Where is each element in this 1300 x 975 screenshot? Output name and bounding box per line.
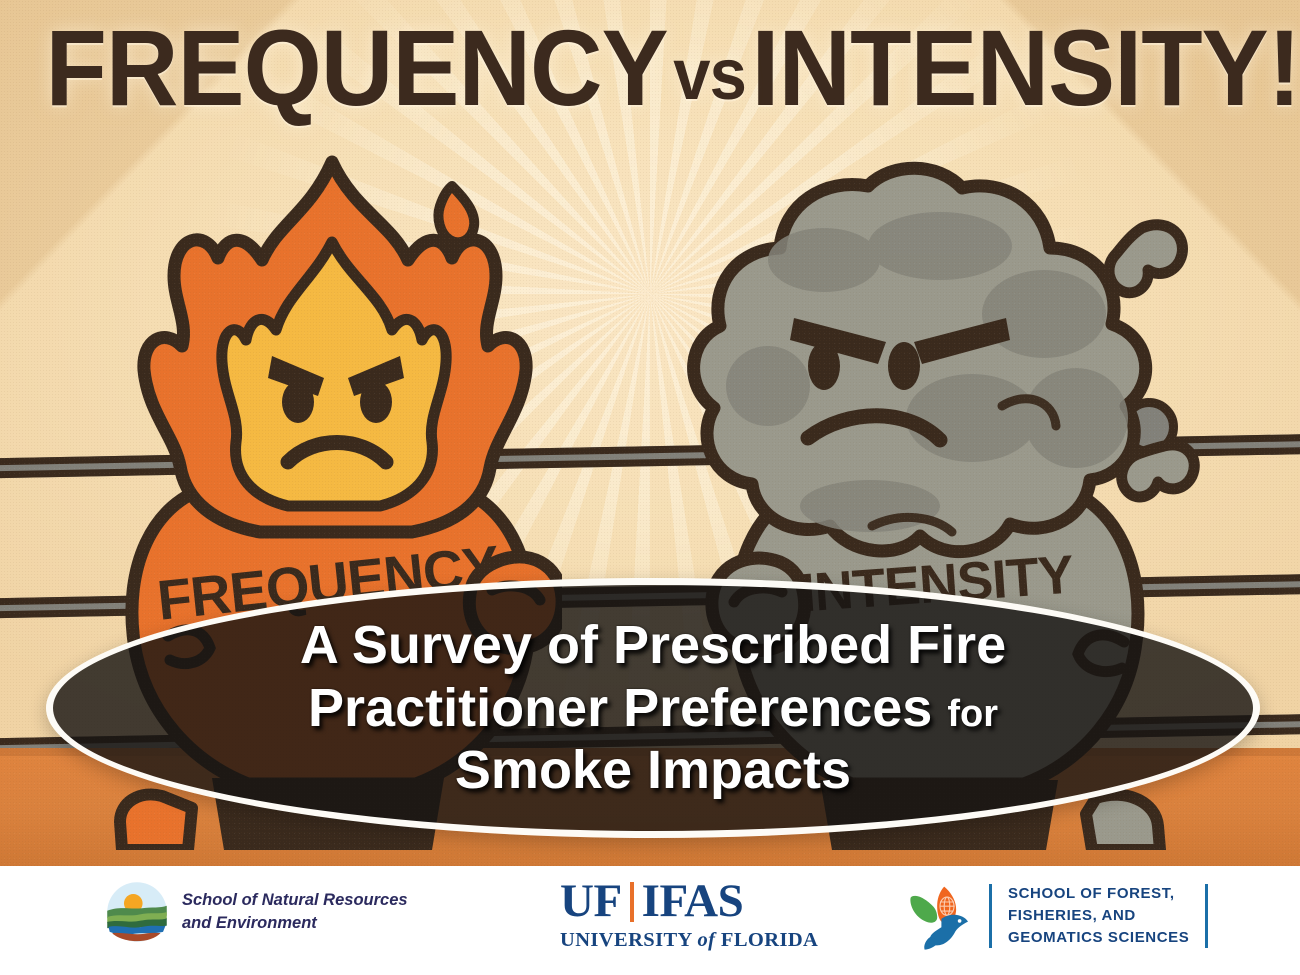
- sffgs-line-2: FISHERIES, AND: [1008, 905, 1189, 927]
- title-line-2-main: Practitioner Preferences: [308, 678, 932, 738]
- smoke-eye-left: [808, 342, 840, 390]
- sffgs-line-3: GEOMATICS SCIENCES: [1008, 927, 1189, 949]
- snre-line-2: and Environment: [182, 912, 408, 935]
- sffgs-rule-right: [1205, 884, 1208, 948]
- headline-frequency: FREQUENCY: [46, 7, 668, 128]
- uf-divider-bar: [630, 882, 634, 922]
- slide-headline: FREQUENCYvsINTENSITY!: [46, 14, 1255, 122]
- fire-eye-left: [282, 381, 314, 423]
- landscape-circle-icon: [106, 881, 168, 943]
- uf-university-subtitle: UNIVERSITY of FLORIDA: [560, 929, 818, 952]
- smoke-boot-right: [1086, 795, 1160, 850]
- smoke-puff-side-icon: [1122, 445, 1195, 497]
- title-line-3: Smoke Impacts: [455, 739, 851, 802]
- uf-sub-university: UNIVERSITY: [560, 929, 692, 951]
- uf-text: UF: [560, 878, 622, 925]
- uf-sub-of: of: [698, 929, 716, 951]
- sffgs-logo-text: SCHOOL OF FOREST, FISHERIES, AND GEOMATI…: [1008, 883, 1189, 948]
- title-line-2: Practitioner Preferences for: [308, 677, 998, 740]
- fire-eye-right: [360, 381, 392, 423]
- logo-school-of-natural-resources: School of Natural Resources and Environm…: [106, 881, 408, 943]
- fire-boot-left: [120, 794, 192, 850]
- headline-intensity: INTENSITY!: [752, 7, 1300, 128]
- presentation-slide: FREQUENCY: [0, 0, 1300, 975]
- uf-ifas-wordmark: UF IFAS: [560, 878, 818, 925]
- logo-school-of-forest-fisheries-geomatics: SCHOOL OF FOREST, FISHERIES, AND GEOMATI…: [905, 880, 1208, 952]
- smoke-eye-right: [888, 342, 920, 390]
- slide-title-banner: A Survey of Prescribed Fire Practitioner…: [46, 578, 1260, 838]
- leaf-globe-fish-icon: [905, 880, 975, 952]
- sffgs-rule-left: [989, 884, 992, 948]
- title-line-2-for: for: [947, 693, 998, 735]
- snre-line-1: School of Natural Resources: [182, 889, 408, 912]
- uf-sub-florida: FLORIDA: [721, 929, 818, 951]
- logo-uf-ifas: UF IFAS UNIVERSITY of FLORIDA: [560, 878, 818, 952]
- headline-vs: vs: [673, 35, 746, 115]
- sffgs-line-1: SCHOOL OF FOREST,: [1008, 883, 1189, 905]
- smoke-puff-top-icon: [1109, 225, 1182, 293]
- slide-footer: School of Natural Resources and Environm…: [0, 866, 1300, 975]
- snre-logo-text: School of Natural Resources and Environm…: [182, 889, 408, 935]
- title-artwork: FREQUENCY: [0, 0, 1300, 866]
- title-line-1: A Survey of Prescribed Fire: [300, 614, 1006, 677]
- fire-ember-icon: [438, 186, 474, 242]
- ifas-text: IFAS: [642, 878, 744, 925]
